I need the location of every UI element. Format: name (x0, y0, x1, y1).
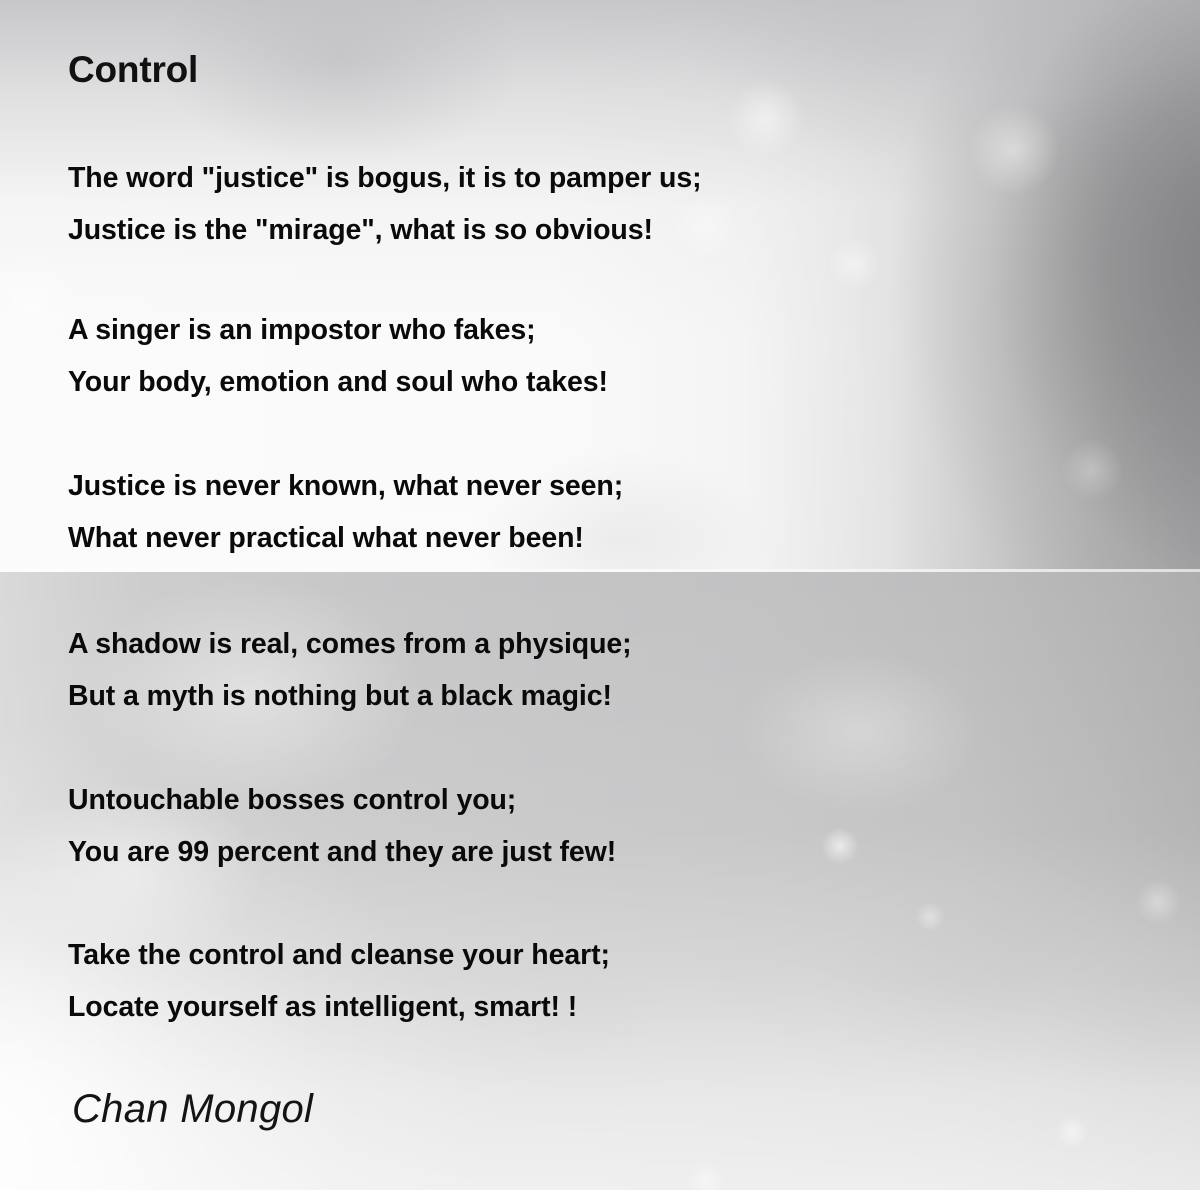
poem-stanza: A shadow is real, comes from a physique;… (68, 618, 632, 722)
poem-stanza: Untouchable bosses control you; You are … (68, 774, 616, 878)
poem-line: A singer is an impostor who fakes; (68, 304, 608, 356)
poem-line: Take the control and cleanse your heart; (68, 929, 610, 981)
poem-line: Untouchable bosses control you; (68, 774, 616, 826)
poem-stanza: Take the control and cleanse your heart;… (68, 929, 610, 1033)
poem-image-canvas: Control The word "justice" is bogus, it … (0, 0, 1200, 1190)
poem-line: Locate yourself as intelligent, smart! ! (68, 981, 610, 1033)
poem-line: But a myth is nothing but a black magic! (68, 670, 632, 722)
poem-line: A shadow is real, comes from a physique; (68, 618, 632, 670)
poem-author-signature: Chan Mongol (72, 1087, 313, 1132)
poem-line: Your body, emotion and soul who takes! (68, 356, 608, 408)
poem-line: Justice is never known, what never seen; (68, 460, 623, 512)
poem-stanza: A singer is an impostor who fakes; Your … (68, 304, 608, 408)
poem-stanza: The word "justice" is bogus, it is to pa… (68, 152, 701, 256)
poem-line: What never practical what never been! (68, 512, 623, 564)
poem-stanza: Justice is never known, what never seen;… (68, 460, 623, 564)
poem-title: Control (68, 50, 198, 91)
poem-line: You are 99 percent and they are just few… (68, 826, 616, 878)
poem-text-layer: Control The word "justice" is bogus, it … (0, 0, 1200, 1190)
poem-line: Justice is the "mirage", what is so obvi… (68, 204, 701, 256)
poem-line: The word "justice" is bogus, it is to pa… (68, 152, 701, 204)
